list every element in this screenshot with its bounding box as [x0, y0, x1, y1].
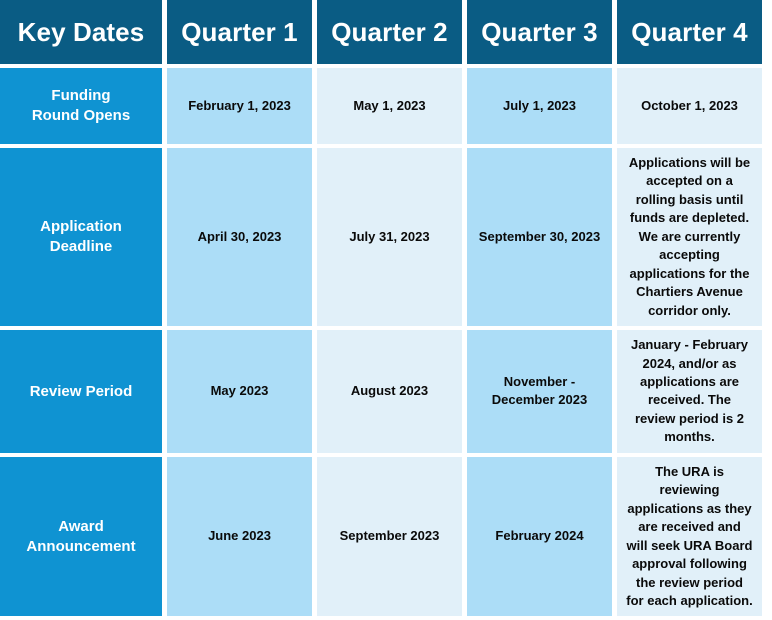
cell-review-period-q3: November - December 2023: [467, 330, 612, 453]
key-dates-table-container: Key Dates Quarter 1 Quarter 2 Quarter 3 …: [0, 0, 772, 537]
cell-award-announcement-q2: September 2023: [317, 457, 462, 617]
cell-award-announcement-q3: February 2024: [467, 457, 612, 617]
table-row: FundingRound Opens February 1, 2023 May …: [0, 68, 762, 144]
table-header: Key Dates Quarter 1 Quarter 2 Quarter 3 …: [0, 0, 762, 64]
table-row: AwardAnnouncement June 2023 September 20…: [0, 457, 762, 617]
row-label-award-announcement: AwardAnnouncement: [0, 457, 162, 617]
row-label-funding-round-opens: FundingRound Opens: [0, 68, 162, 144]
table-row: Review Period May 2023 August 2023 Novem…: [0, 330, 762, 453]
row-label-application-deadline: ApplicationDeadline: [0, 148, 162, 326]
cell-award-announcement-q1: June 2023: [167, 457, 312, 617]
cell-review-period-q2: August 2023: [317, 330, 462, 453]
row-label-review-period: Review Period: [0, 330, 162, 453]
cell-review-period-q4: January - February 2024, and/or as appli…: [617, 330, 762, 453]
cell-funding-round-opens-q4: October 1, 2023: [617, 68, 762, 144]
column-header-key-dates: Key Dates: [0, 0, 162, 64]
cell-application-deadline-q1: April 30, 2023: [167, 148, 312, 326]
cell-funding-round-opens-q3: July 1, 2023: [467, 68, 612, 144]
cell-funding-round-opens-q1: February 1, 2023: [167, 68, 312, 144]
column-header-quarter-3: Quarter 3: [467, 0, 612, 64]
column-header-quarter-2: Quarter 2: [317, 0, 462, 64]
column-header-quarter-1: Quarter 1: [167, 0, 312, 64]
header-row: Key Dates Quarter 1 Quarter 2 Quarter 3 …: [0, 0, 762, 64]
key-dates-table: Key Dates Quarter 1 Quarter 2 Quarter 3 …: [0, 0, 767, 620]
table-body: FundingRound Opens February 1, 2023 May …: [0, 68, 762, 616]
cell-application-deadline-q2: July 31, 2023: [317, 148, 462, 326]
cell-application-deadline-q4: Applications will be accepted on a rolli…: [617, 148, 762, 326]
cell-award-announcement-q4: The URA is reviewing applications as the…: [617, 457, 762, 617]
cell-application-deadline-q3: September 30, 2023: [467, 148, 612, 326]
cell-review-period-q1: May 2023: [167, 330, 312, 453]
table-row: ApplicationDeadline April 30, 2023 July …: [0, 148, 762, 326]
cell-funding-round-opens-q2: May 1, 2023: [317, 68, 462, 144]
column-header-quarter-4: Quarter 4: [617, 0, 762, 64]
